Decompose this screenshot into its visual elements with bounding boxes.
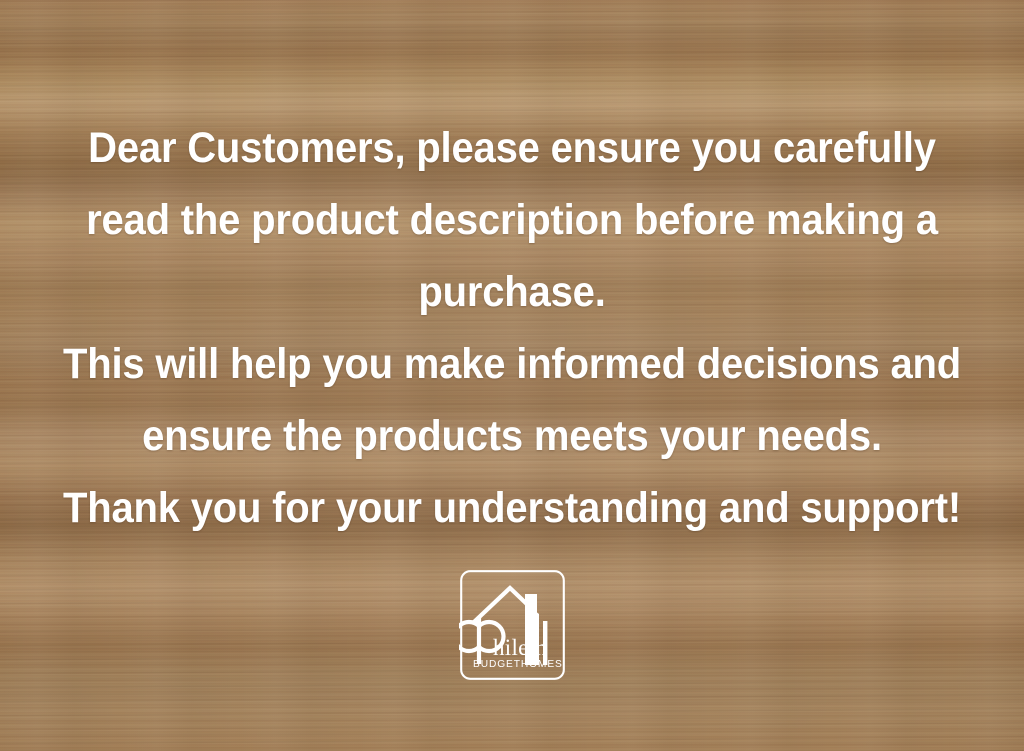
message-line-2: read the product description before maki… <box>36 184 988 256</box>
message-line-3: purchase. <box>36 256 988 328</box>
message-line-6: Thank you for your understanding and sup… <box>36 472 988 544</box>
message-line-4: This will help you make informed decisio… <box>36 328 988 400</box>
logo-house-roof-icon <box>475 588 531 621</box>
notice-message: Dear Customers, please ensure you carefu… <box>36 112 988 544</box>
logo-wordmark: hilein <box>493 635 547 660</box>
philein-budgethomes-logo: hilein BUDGETHOMES <box>459 569 566 681</box>
message-line-1: Dear Customers, please ensure you carefu… <box>36 112 988 184</box>
message-line-5: ensure the products meets your needs. <box>36 400 988 472</box>
wood-notice-banner: Dear Customers, please ensure you carefu… <box>0 0 1024 751</box>
logo-tagline: BUDGETHOMES <box>473 659 563 670</box>
